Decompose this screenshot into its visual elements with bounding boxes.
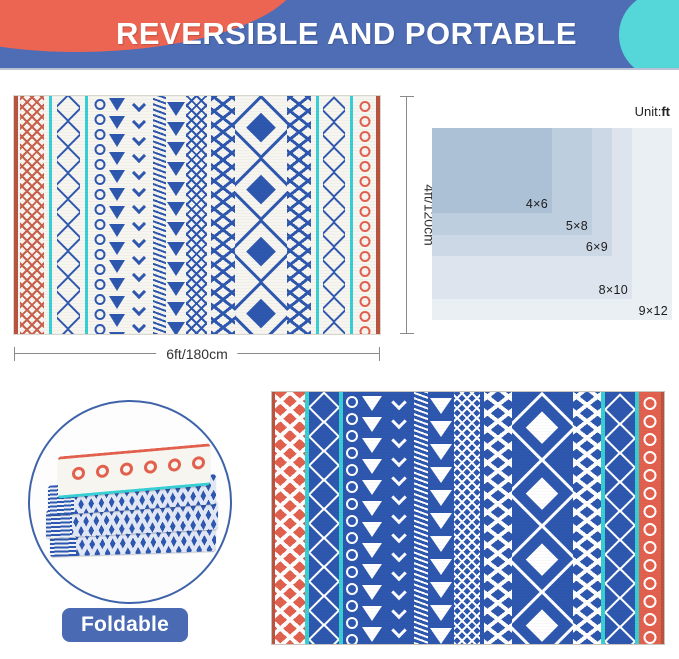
circle-motif	[95, 324, 106, 334]
rug-back-stripe-zigzag-wide	[484, 392, 512, 644]
chevron-motif	[392, 547, 408, 563]
circle-motif	[95, 189, 106, 200]
circle-motif	[643, 487, 656, 500]
rug-back-stripe-circles	[343, 392, 361, 644]
circle-motif	[360, 161, 371, 172]
chevron-motif	[132, 319, 146, 333]
diamond-motif	[605, 451, 635, 484]
chevron-motif	[132, 132, 146, 146]
circle-motif	[346, 515, 358, 527]
unit-value: ft	[661, 104, 670, 119]
triangle-motif	[167, 222, 185, 236]
triangle-motif	[109, 188, 125, 201]
folded-circle-motif	[96, 464, 109, 478]
circle-motif	[95, 159, 106, 170]
diamond-motif	[309, 623, 339, 644]
chevron-motif	[392, 566, 408, 582]
triangle-motif	[167, 242, 185, 256]
circle-motif	[346, 634, 358, 644]
circle-motif	[360, 326, 371, 334]
diamond-motif	[605, 625, 635, 644]
triangle-motif	[362, 627, 382, 642]
triangle-motif	[109, 296, 125, 309]
circle-motif	[643, 415, 656, 428]
circle-motif	[346, 464, 358, 476]
triangle-motif	[109, 152, 125, 165]
rug-back-stripe-diamonds-2	[605, 392, 635, 644]
diamond-motif	[323, 246, 345, 273]
triangle-motif	[430, 582, 452, 598]
size-label-4x6: 4×6	[526, 197, 548, 211]
circle-motif	[360, 101, 371, 112]
circle-motif	[346, 447, 358, 459]
triangle-motif	[167, 322, 185, 334]
chevron-motif	[392, 528, 408, 544]
rug-stripe-circles	[93, 96, 108, 334]
chevron-motif	[132, 268, 146, 282]
triangle-motif	[430, 559, 452, 575]
rug-back-edge-right	[661, 392, 664, 644]
diamond-motif	[57, 96, 81, 122]
diamond-motif	[57, 224, 81, 252]
folded-circle-motif	[168, 458, 181, 472]
size-comparison-chart: Unit:ft 9×128×106×95×84×6	[432, 128, 672, 320]
triangle-motif	[167, 122, 185, 136]
diamond-motif	[323, 146, 345, 173]
diamond-motif	[605, 393, 635, 426]
dimension-width-label: 6ft/180cm	[156, 346, 237, 362]
triangle-motif	[430, 467, 452, 483]
rug-back-stripe-triangles	[361, 392, 385, 644]
circle-motif	[95, 129, 106, 140]
circle-motif	[346, 566, 358, 578]
triangle-motif	[430, 605, 452, 621]
diamond-motif	[309, 565, 339, 598]
circle-motif	[360, 281, 371, 292]
diamond-motif	[309, 594, 339, 627]
triangle-motif	[430, 513, 452, 529]
circle-motif	[360, 236, 371, 247]
circle-motif	[360, 266, 371, 277]
circle-motif	[346, 396, 358, 408]
chevron-motif	[132, 285, 146, 299]
page-title: REVERSIBLE AND PORTABLE	[0, 0, 679, 68]
triangle-motif	[109, 242, 125, 255]
circle-motif	[346, 549, 358, 561]
rug-stripe-hatch	[153, 96, 166, 334]
triangle-motif	[430, 421, 452, 437]
triangle-motif	[167, 142, 185, 156]
triangle-motif	[362, 480, 382, 495]
diamond-motif	[605, 596, 635, 629]
chevron-motif	[392, 471, 408, 487]
circle-motif	[643, 433, 656, 446]
diamond-motif	[323, 96, 345, 123]
circle-motif	[643, 541, 656, 554]
circle-motif	[360, 221, 371, 232]
unit-prefix: Unit:	[635, 104, 662, 119]
chevron-motif	[132, 149, 146, 163]
foldable-badge: Foldable	[62, 608, 188, 642]
size-chart-unit-label: Unit:ft	[635, 104, 670, 119]
rug-stripe-center-medallion	[235, 96, 288, 334]
diamond-motif	[323, 221, 345, 248]
circle-motif	[346, 532, 358, 544]
diamond-motif	[309, 507, 339, 540]
triangle-motif	[430, 398, 452, 414]
dimension-width: 6ft/180cm	[14, 345, 380, 363]
triangle-motif	[167, 182, 185, 196]
rug-stripe-chevrons	[130, 96, 148, 334]
diamond-motif	[57, 172, 81, 200]
diamond-motif	[309, 478, 339, 511]
triangle-motif	[109, 116, 125, 129]
circle-motif	[360, 251, 371, 262]
circle-motif	[360, 296, 371, 307]
diamond-motif	[323, 271, 345, 298]
chevron-motif	[132, 166, 146, 180]
chevron-motif	[392, 490, 408, 506]
triangle-motif	[430, 536, 452, 552]
chevron-motif	[132, 251, 146, 265]
triangle-motif	[167, 282, 185, 296]
circle-motif	[360, 116, 371, 127]
rug-back-stripe-chevrons	[388, 392, 410, 644]
rug-stripe-zigzag-wide-2	[287, 96, 311, 334]
circle-motif	[643, 613, 656, 626]
chevron-motif	[132, 98, 146, 112]
circle-motif	[643, 469, 656, 482]
circle-motif	[95, 204, 106, 215]
chevron-motif	[392, 604, 408, 620]
chevron-motif	[392, 585, 408, 601]
circle-motif	[643, 559, 656, 572]
diamond-motif	[323, 121, 345, 148]
diamond-motif	[323, 321, 345, 334]
chevron-motif	[392, 452, 408, 468]
rug-stripe-diamond-chain	[57, 96, 81, 334]
circle-motif	[95, 114, 106, 125]
circle-motif	[346, 413, 358, 425]
triangle-motif	[362, 396, 382, 411]
circle-motif	[346, 583, 358, 595]
chevron-motif	[132, 183, 146, 197]
dimension-height: 4ft/120cm	[398, 96, 416, 334]
chevron-motif	[392, 395, 408, 411]
diamond-motif	[57, 328, 81, 334]
rug-back-stripe-zigzag-wide-2	[573, 392, 601, 644]
diamond-motif	[323, 296, 345, 323]
diamond-motif	[309, 420, 339, 453]
circle-motif	[643, 595, 656, 608]
triangle-motif	[430, 628, 452, 644]
size-label-9x12: 9×12	[639, 304, 668, 318]
circle-motif	[643, 397, 656, 410]
circle-motif	[360, 311, 371, 322]
size-label-8x10: 8×10	[599, 283, 628, 297]
rug-back-image	[272, 392, 664, 644]
triangle-motif	[167, 202, 185, 216]
circle-motif	[95, 264, 106, 275]
chevron-motif	[392, 433, 408, 449]
foldable-circle-frame	[28, 400, 232, 604]
triangle-motif	[167, 162, 185, 176]
circle-motif	[643, 577, 656, 590]
triangle-motif	[167, 302, 185, 316]
circle-motif	[360, 146, 371, 157]
triangle-motif	[362, 564, 382, 579]
circle-motif	[643, 505, 656, 518]
folded-circle-motif	[192, 456, 205, 470]
rug-back-stripe-zigzag	[454, 392, 480, 644]
circle-motif	[95, 234, 106, 245]
rug-back-stripe-triangles-2	[428, 392, 454, 644]
rug-back-stripe-coral	[275, 392, 305, 644]
triangle-motif	[362, 585, 382, 600]
rug-stripe-diamond-chain-2	[323, 96, 345, 334]
chevron-motif	[132, 217, 146, 231]
triangle-motif	[362, 438, 382, 453]
circle-motif	[643, 523, 656, 536]
chevron-motif	[132, 200, 146, 214]
folded-rug-stack	[42, 450, 224, 558]
folded-circle-motif	[120, 462, 133, 476]
chevron-motif	[392, 623, 408, 639]
circle-motif	[95, 309, 106, 320]
circle-motif	[95, 279, 106, 290]
circle-motif	[346, 600, 358, 612]
foldable-callout	[28, 400, 232, 604]
circle-motif	[360, 176, 371, 187]
triangle-motif	[362, 606, 382, 621]
circle-motif	[346, 430, 358, 442]
rug-back-stripe-diamonds	[309, 392, 339, 644]
circle-motif	[643, 451, 656, 464]
triangle-motif	[167, 102, 185, 116]
chevron-motif	[132, 115, 146, 129]
rug-back-stripe-hatch	[414, 392, 428, 644]
size-label-6x9: 6×9	[586, 240, 608, 254]
triangle-motif	[109, 98, 125, 111]
circle-motif	[95, 294, 106, 305]
circle-motif	[95, 249, 106, 260]
diamond-motif	[309, 449, 339, 482]
triangle-motif	[109, 224, 125, 237]
rug-edge-rust-right	[376, 96, 380, 334]
circle-motif	[346, 617, 358, 629]
diamond-motif	[57, 198, 81, 226]
circle-motif	[643, 631, 656, 644]
diamond-motif	[323, 196, 345, 223]
triangle-motif	[362, 459, 382, 474]
diamond-motif	[309, 536, 339, 569]
diamond-motif	[57, 146, 81, 174]
rug-stripe-zigzag-wide	[211, 96, 235, 334]
folded-circle-motif	[72, 466, 85, 480]
triangle-motif	[362, 501, 382, 516]
diamond-motif	[57, 120, 81, 148]
circle-motif	[360, 191, 371, 202]
chevron-motif	[132, 234, 146, 248]
rug-front-image	[14, 96, 380, 334]
triangle-motif	[362, 543, 382, 558]
diamond-motif	[605, 509, 635, 542]
triangle-motif	[109, 170, 125, 183]
circle-motif	[95, 99, 106, 110]
diamond-motif	[605, 538, 635, 571]
triangle-motif	[109, 332, 125, 334]
diamond-motif	[57, 250, 81, 278]
circle-motif	[95, 219, 106, 230]
triangle-motif	[109, 278, 125, 291]
size-label-5x8: 5×8	[566, 219, 588, 233]
circle-motif	[360, 131, 371, 142]
triangle-motif	[362, 522, 382, 537]
rug-stripe-circles-coral	[358, 96, 373, 334]
infographic-page: REVERSIBLE AND PORTABLE 4ft/120cm 6ft/18…	[0, 0, 679, 659]
rug-stripe-coral-zigzag	[20, 96, 44, 334]
triangle-motif	[362, 417, 382, 432]
circle-motif	[360, 206, 371, 217]
rug-back-stripe-coral-circles	[639, 392, 661, 644]
diamond-motif	[323, 171, 345, 198]
triangle-motif	[430, 490, 452, 506]
triangle-motif	[109, 206, 125, 219]
diamond-motif	[605, 480, 635, 513]
rug-stripe-triangles	[107, 96, 125, 334]
chevron-motif	[392, 509, 408, 525]
triangle-motif	[430, 444, 452, 460]
rug-stripe-triangles-2	[166, 96, 186, 334]
circle-motif	[95, 174, 106, 185]
circle-motif	[95, 144, 106, 155]
triangle-motif	[109, 314, 125, 327]
diamond-motif	[57, 302, 81, 330]
banner-divider	[0, 68, 679, 70]
diamond-motif	[57, 276, 81, 304]
circle-motif	[346, 481, 358, 493]
chevron-motif	[392, 414, 408, 430]
circle-motif	[346, 498, 358, 510]
triangle-motif	[109, 134, 125, 147]
rug-back-stripe-center-medallion	[512, 392, 574, 644]
diamond-motif	[605, 422, 635, 455]
chevron-motif	[132, 302, 146, 316]
triangle-motif	[109, 260, 125, 273]
diamond-motif	[605, 567, 635, 600]
rug-stripe-blue-zigzag	[186, 96, 208, 334]
triangle-motif	[167, 262, 185, 276]
folded-circle-motif	[144, 460, 157, 474]
